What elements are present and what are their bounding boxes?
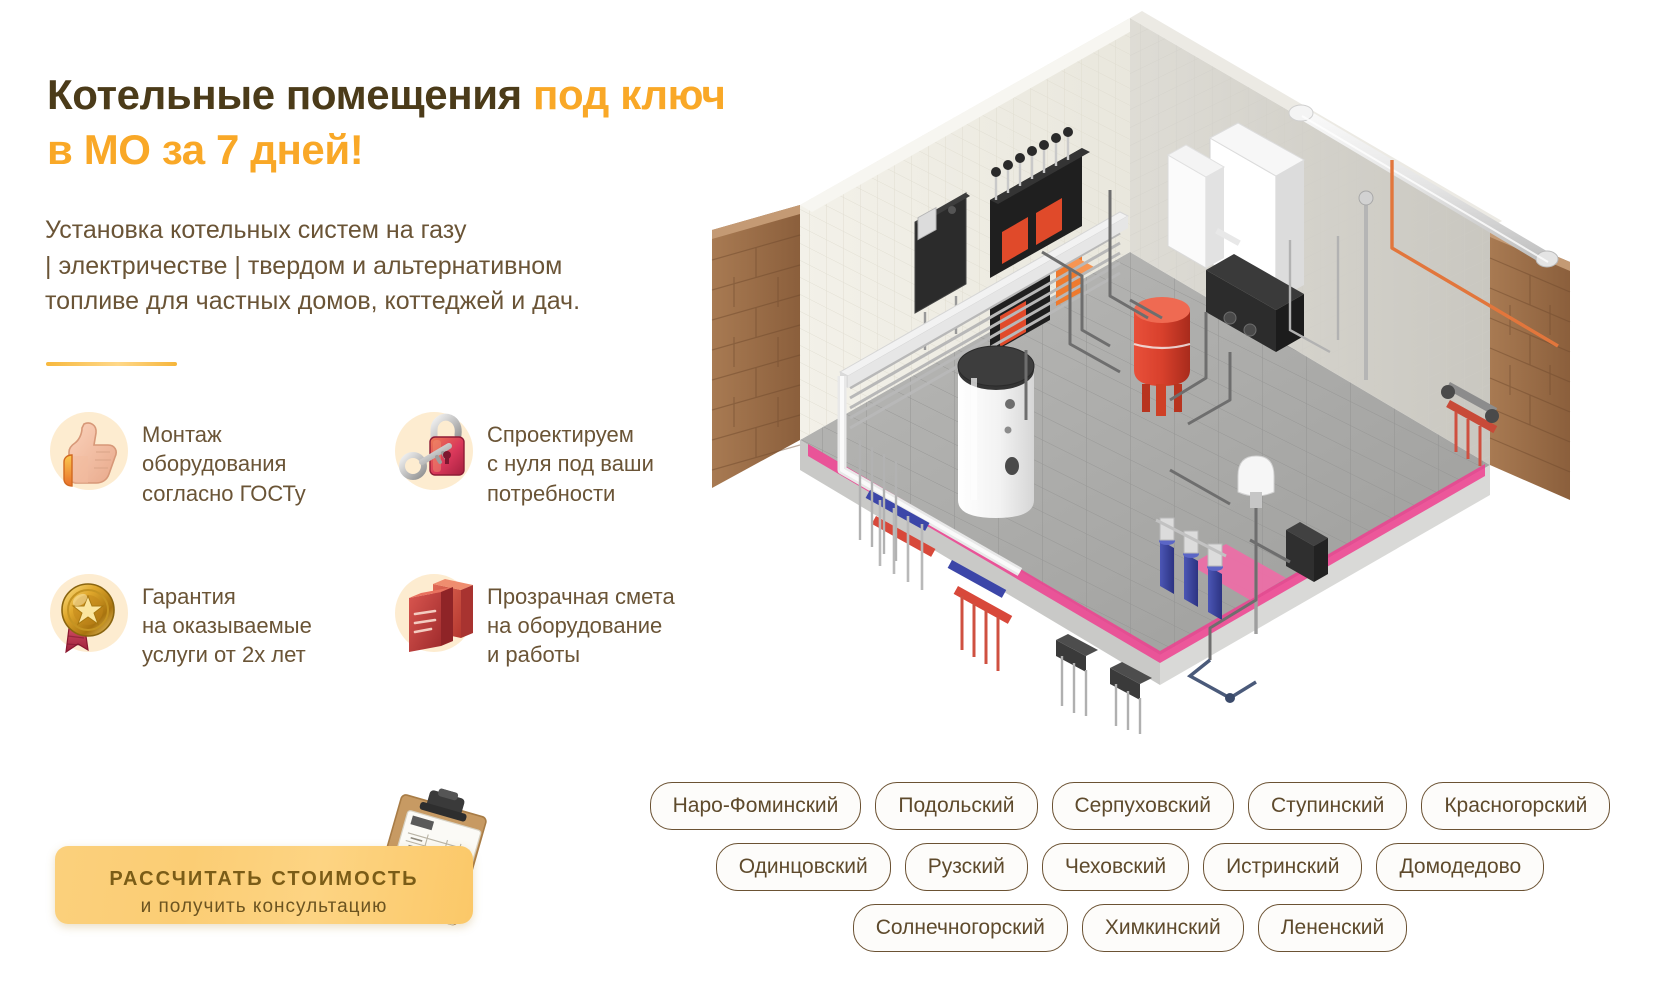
feature-line-2: на оборудование — [487, 611, 675, 640]
regions-row-3: Солнечногорский Химкинский Лененский — [600, 904, 1660, 952]
region-tag[interactable]: Истринский — [1203, 843, 1362, 891]
regions-row-2: Одинцовский Рузский Чеховский Истринский… — [600, 843, 1660, 891]
feature-line-3: согласно ГОСТу — [142, 479, 306, 508]
feature-line-2: с нуля под ваши — [487, 449, 654, 478]
feature-text: Прозрачная смета на оборудование и работ… — [487, 566, 675, 670]
feature-text: Гарантия на оказываемые услуги от 2х лет — [142, 566, 312, 670]
feature-line-3: и работы — [487, 640, 675, 669]
region-tag[interactable]: Солнечногорский — [853, 904, 1068, 952]
feature-icon-wrap — [44, 404, 136, 496]
feature-line-1: Монтаж — [142, 420, 306, 449]
region-tag[interactable]: Наро-Фоминский — [650, 782, 862, 830]
page-subtitle: Установка котельных систем на газу | эле… — [45, 213, 725, 320]
region-tag[interactable]: Рузский — [905, 843, 1028, 891]
region-tag[interactable]: Красногорский — [1421, 782, 1610, 830]
boiler-room-illustration — [690, 0, 1680, 760]
feature-icon-wrap — [389, 404, 481, 496]
feature-item-design: Спроектируем с нуля под ваши потребности — [389, 404, 734, 508]
region-tag[interactable]: Домодедово — [1376, 843, 1544, 891]
cta-sub-label: и получить консультацию — [55, 896, 473, 918]
feature-item-installation: Монтаж оборудования согласно ГОСТу — [44, 404, 389, 508]
feature-text: Монтаж оборудования согласно ГОСТу — [142, 404, 306, 508]
region-tag[interactable]: Химкинский — [1082, 904, 1244, 952]
landing-hero-page: Котельные помещения под ключ в МО за 7 д… — [0, 0, 1680, 982]
region-tag[interactable]: Ступинский — [1248, 782, 1407, 830]
subtitle-line-1: Установка котельных систем на газу — [45, 216, 466, 244]
feature-line-1: Прозрачная смета — [487, 582, 675, 611]
features-row-1: Монтаж оборудования согласно ГОСТу — [44, 404, 744, 508]
region-tag[interactable]: Подольский — [875, 782, 1037, 830]
page-title: Котельные помещения под ключ в МО за 7 д… — [47, 68, 747, 177]
features-grid: Монтаж оборудования согласно ГОСТу — [44, 404, 744, 670]
subtitle-line-2: | электричестве | твердом и альтернативн… — [45, 252, 562, 280]
regions-row-1: Наро-Фоминский Подольский Серпуховский С… — [600, 782, 1660, 830]
region-tag[interactable]: Одинцовский — [716, 843, 891, 891]
feature-item-estimate: Прозрачная смета на оборудование и работ… — [389, 566, 734, 670]
gold-divider — [46, 362, 177, 366]
feature-line-3: потребности — [487, 479, 654, 508]
calculate-cost-button[interactable]: РАССЧИТАТЬ СТОИМОСТЬ и получить консульт… — [55, 846, 473, 924]
documents-icon — [389, 566, 481, 658]
regions-tag-cloud: Наро-Фоминский Подольский Серпуховский С… — [600, 782, 1660, 965]
padlock-key-icon — [389, 404, 481, 496]
feature-line-2: на оказываемые — [142, 611, 312, 640]
feature-line-2: оборудования — [142, 449, 306, 478]
feature-line-1: Гарантия — [142, 582, 312, 611]
region-tag[interactable]: Серпуховский — [1052, 782, 1234, 830]
feature-item-warranty: Гарантия на оказываемые услуги от 2х лет — [44, 566, 389, 670]
features-row-2: Гарантия на оказываемые услуги от 2х лет — [44, 566, 744, 670]
feature-text: Спроектируем с нуля под ваши потребности — [487, 404, 654, 508]
medal-icon — [44, 566, 136, 658]
headline-line2: в МО за 7 дней! — [47, 123, 747, 178]
headline-accent: под ключ — [533, 71, 725, 118]
cta-main-label: РАССЧИТАТЬ СТОИМОСТЬ — [55, 868, 473, 891]
feature-icon-wrap — [389, 566, 481, 658]
region-tag[interactable]: Лененский — [1258, 904, 1407, 952]
cta-area: РАССЧИТАТЬ СТОИМОСТЬ и получить консульт… — [55, 828, 485, 943]
subtitle-line-3: топливе для частных домов, коттеджей и д… — [45, 287, 580, 315]
feature-line-1: Спроектируем — [487, 420, 654, 449]
region-tag[interactable]: Чеховский — [1042, 843, 1189, 891]
headline-part1: Котельные помещения — [47, 71, 533, 118]
feature-line-3: услуги от 2х лет — [142, 640, 312, 669]
thumbs-up-icon — [44, 404, 136, 496]
feature-icon-wrap — [44, 566, 136, 658]
